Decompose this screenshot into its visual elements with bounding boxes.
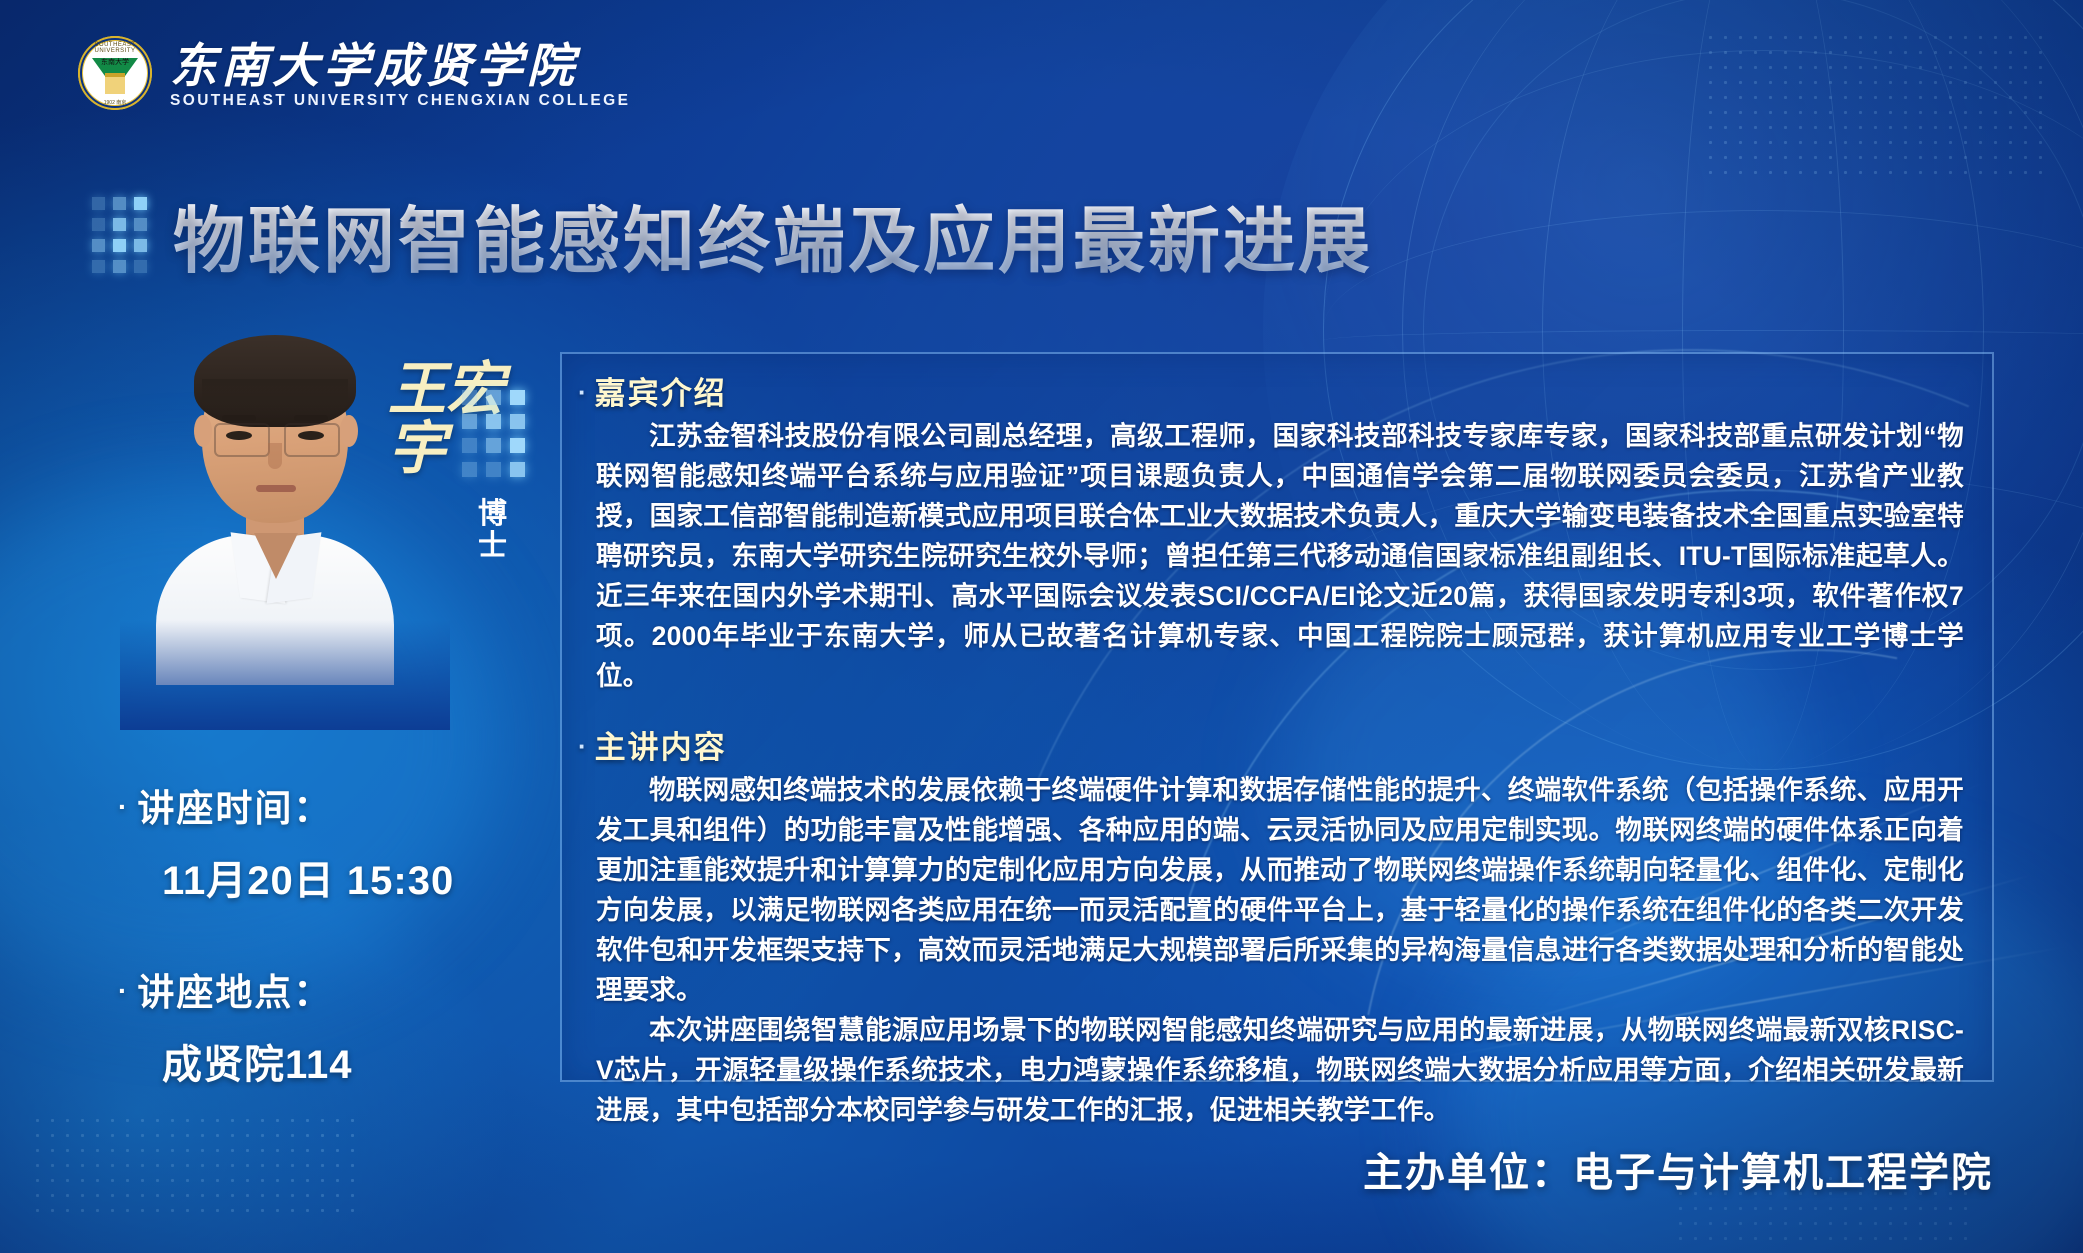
place-label: 讲座地点：	[137, 972, 332, 1013]
seal-middle-text: 东南大学	[78, 57, 152, 67]
poster-canvas: SOUTHEAST UNIVERSITY 东南大学 1902 南京 东南大学成贤…	[0, 0, 2083, 1253]
portrait-fade-overlay	[120, 620, 450, 730]
section-heading-content: ·主讲内容	[578, 722, 727, 767]
organizer-footer: 主办单位：电子与计算机工程学院	[1363, 1140, 1993, 1198]
seal-bottom-text: 1902 南京	[78, 99, 152, 106]
lecture-info: ·讲座时间： 11月20日 15:30 ·讲座地点： 成贤院114	[118, 778, 454, 1090]
seal-top-text: SOUTHEAST UNIVERSITY	[78, 42, 152, 54]
speaker-degree: 博士	[478, 498, 522, 563]
logo-name-english: SOUTHEAST UNIVERSITY CHENGXIAN COLLEGE	[170, 92, 630, 110]
time-label-row: ·讲座时间：	[118, 778, 454, 832]
place-label-row: ·讲座地点：	[118, 962, 454, 1016]
guest-heading-text: 嘉宾介绍	[595, 376, 727, 411]
speaker-pixel-accent-icon	[462, 390, 525, 477]
content-paragraph-2: 本次讲座围绕智慧能源应用场景下的物联网智能感知终端研究与应用的最新进展，从物联网…	[596, 1010, 1964, 1130]
lecture-content-text: 物联网感知终端技术的发展依赖于终端硬件计算和数据存储性能的提升、终端软件系统（包…	[596, 770, 1964, 1130]
logo-name-chinese: 东南大学成贤学院	[170, 43, 630, 90]
content-bullet-icon: ·	[578, 731, 589, 761]
content-heading-text: 主讲内容	[595, 730, 727, 765]
guest-bio-text: 江苏金智科技股份有限公司副总经理，高级工程师，国家科技部科技专家库专家，国家科技…	[596, 416, 1964, 696]
pixel-accent-icon	[92, 197, 147, 273]
place-value: 成贤院114	[162, 1032, 454, 1090]
title-row: 物联网智能感知终端及应用最新进展	[92, 182, 1373, 287]
page-title: 物联网智能感知终端及应用最新进展	[173, 182, 1373, 287]
university-seal-icon: SOUTHEAST UNIVERSITY 东南大学 1902 南京	[78, 36, 152, 110]
section-heading-guest: ·嘉宾介绍	[578, 368, 727, 413]
guest-bullet-icon: ·	[578, 377, 589, 407]
university-logo: SOUTHEAST UNIVERSITY 东南大学 1902 南京 东南大学成贤…	[78, 36, 630, 110]
place-bullet-icon: ·	[118, 975, 129, 1006]
time-bullet-icon: ·	[118, 791, 129, 822]
content-paragraph-1: 物联网感知终端技术的发展依赖于终端硬件计算和数据存储性能的提升、终端软件系统（包…	[596, 770, 1964, 1010]
time-value: 11月20日 15:30	[162, 848, 454, 906]
time-label: 讲座时间：	[137, 788, 332, 829]
guest-bio-paragraph: 江苏金智科技股份有限公司副总经理，高级工程师，国家科技部科技专家库专家，国家科技…	[596, 416, 1964, 696]
